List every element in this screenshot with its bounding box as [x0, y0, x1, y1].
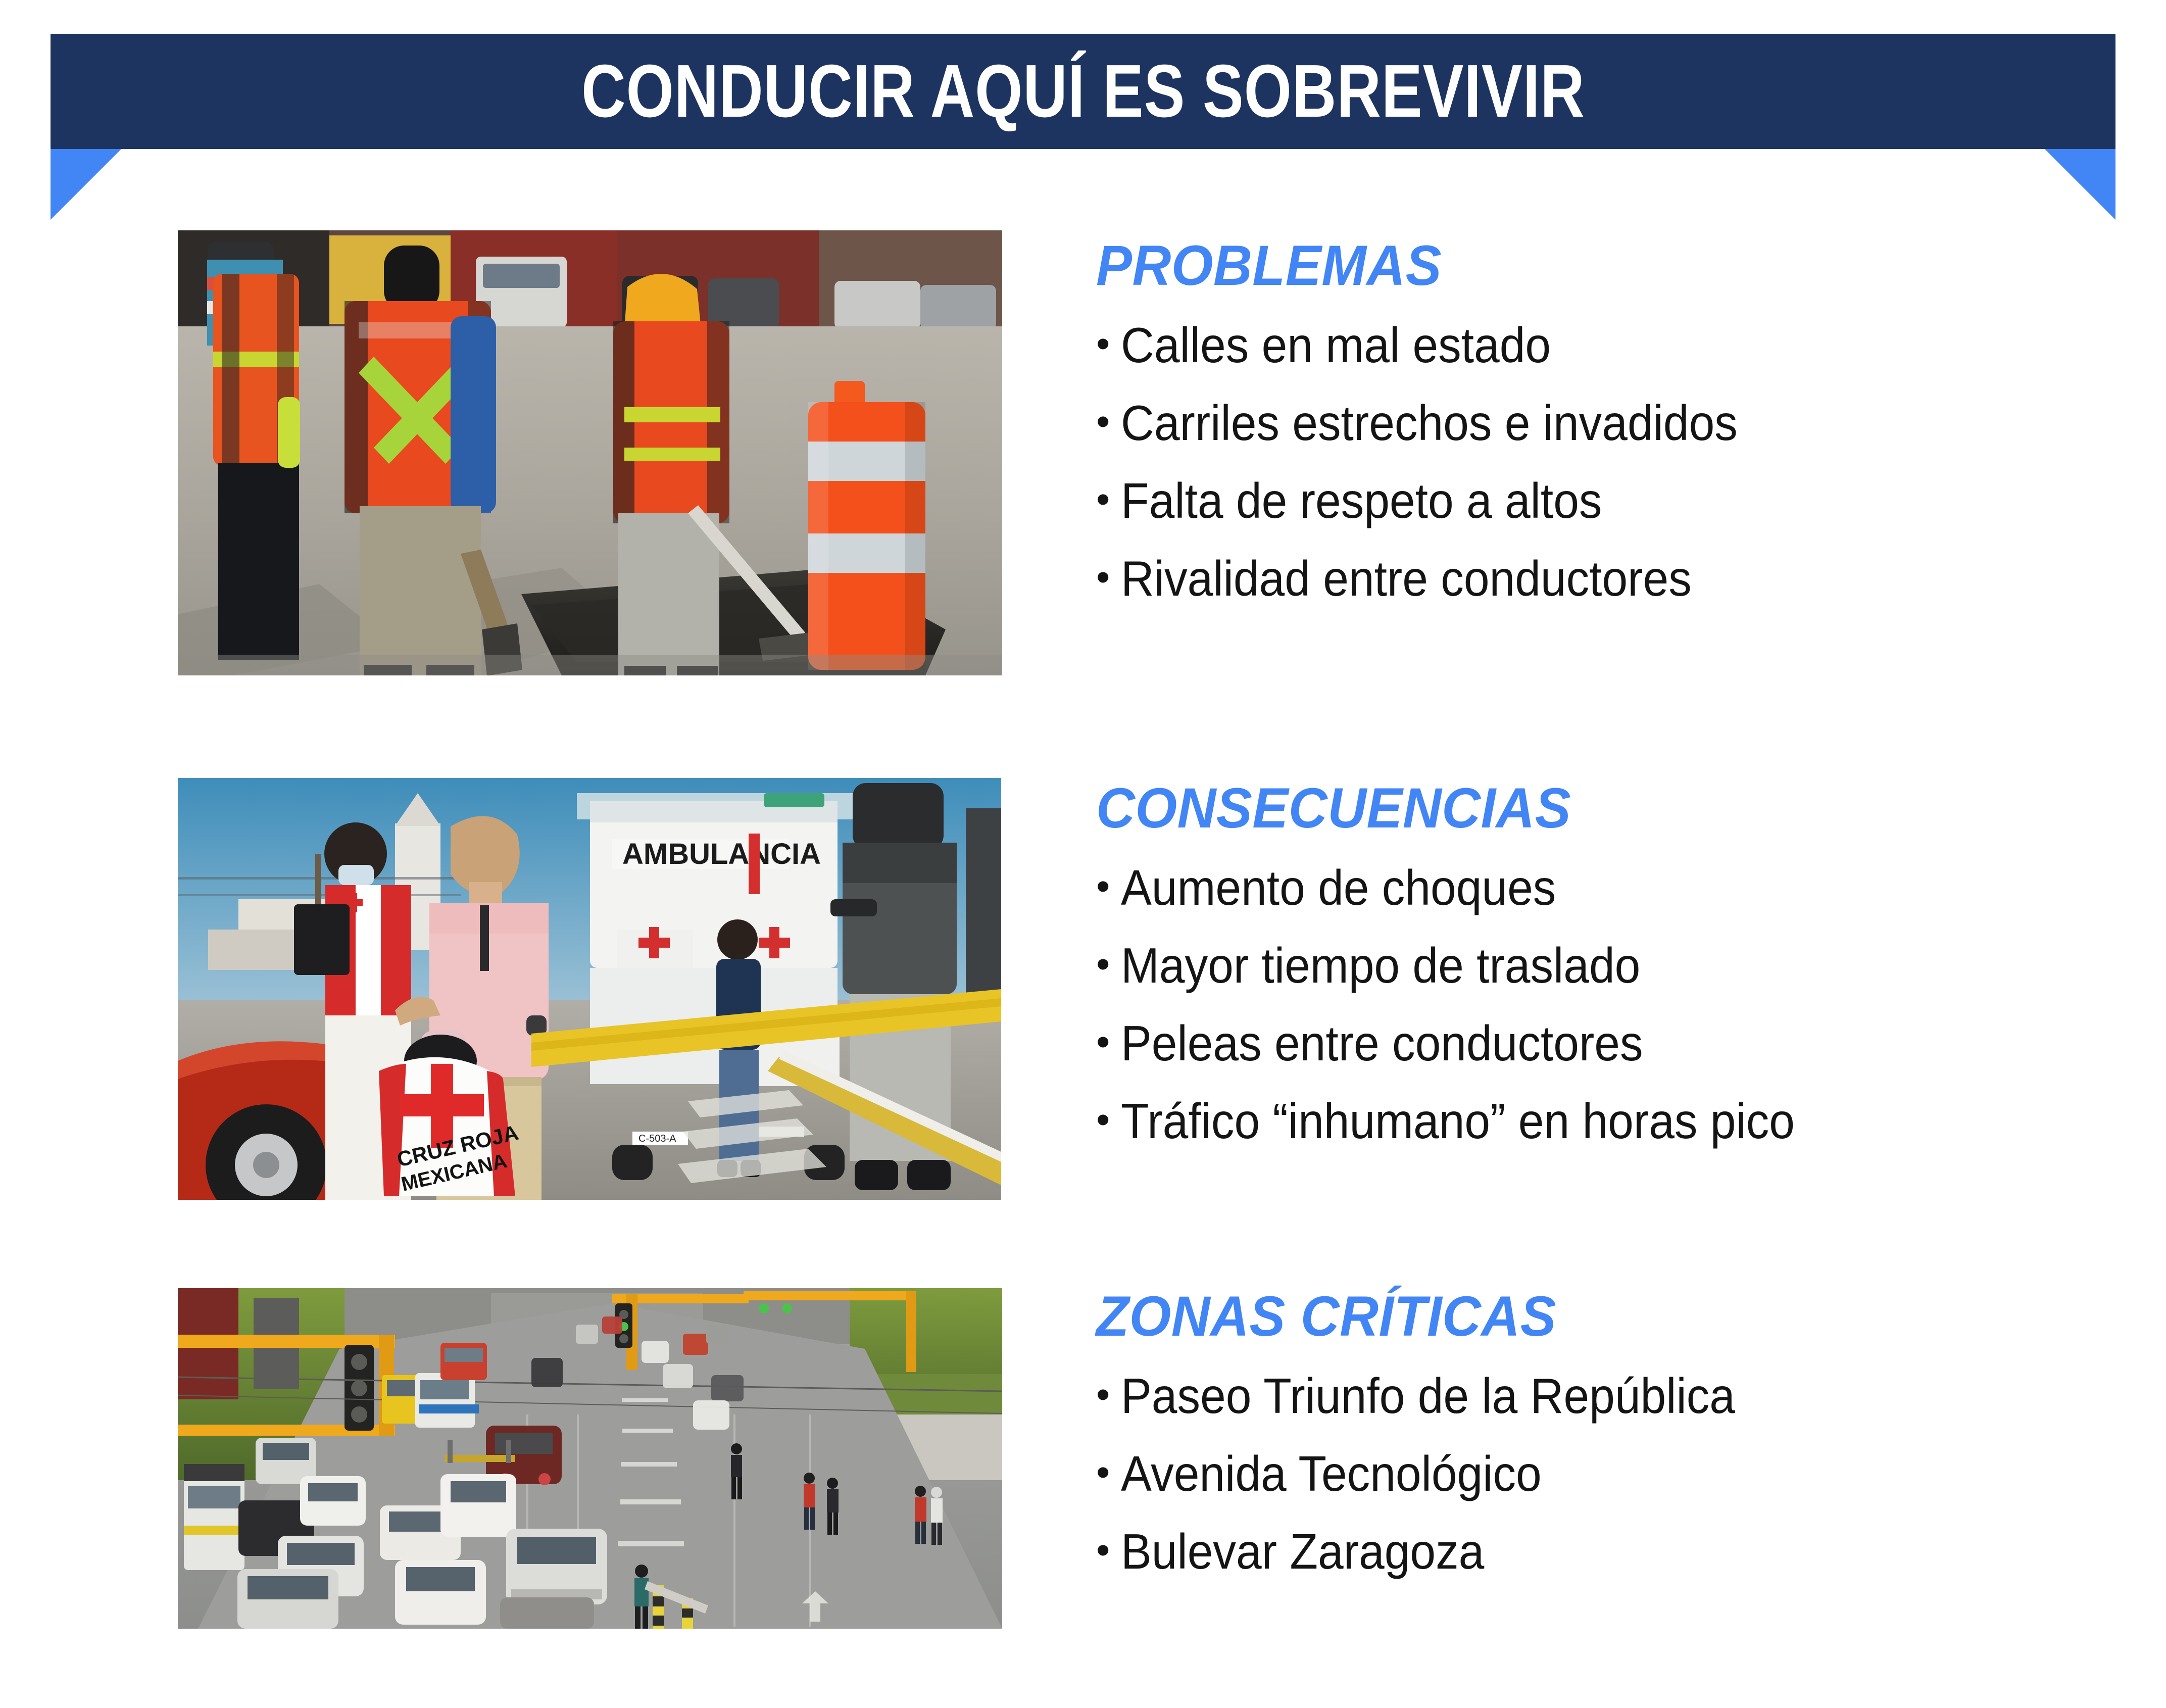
list-item-label: Aumento de choques	[1121, 863, 1556, 912]
bullet-dot-icon: •	[1096, 554, 1110, 601]
page-title: CONDUCIR AQUÍ ES SOBREVIVIR	[581, 54, 1585, 129]
list-item: • Calles en mal estado	[1096, 320, 2056, 370]
list-item-label: Tráfico “inhumano” en horas pico	[1121, 1096, 1795, 1146]
ribbon-fold-right-icon	[2045, 149, 2115, 220]
list-item-label: Avenida Tecnológico	[1121, 1449, 1542, 1498]
list-item-label: Carriles estrechos e invadidos	[1121, 398, 1738, 448]
heading-zonas-criticas: ZONAS CRÍTICAS	[1096, 1288, 2008, 1345]
list-item-label: Mayor tiempo de traslado	[1121, 941, 1640, 990]
bullet-list-zonas: • Paseo Triunfo de la República • Avenid…	[1096, 1371, 2056, 1576]
photo-road-repair	[178, 230, 1002, 675]
bullet-dot-icon: •	[1096, 320, 1110, 368]
list-item-label: Peleas entre conductores	[1121, 1018, 1643, 1068]
ribbon-fold-left-icon	[51, 149, 121, 220]
text-block-consecuencias: CONSECUENCIAS • Aumento de choques • May…	[1096, 778, 2056, 1174]
bullet-dot-icon: •	[1096, 1018, 1110, 1066]
bullet-list-problemas: • Calles en mal estado • Carriles estrec…	[1096, 320, 2056, 603]
text-block-problemas: PROBLEMAS • Calles en mal estado • Carri…	[1096, 230, 2056, 631]
bullet-list-consecuencias: • Aumento de choques • Mayor tiempo de t…	[1096, 863, 2056, 1146]
list-item: • Tráfico “inhumano” en horas pico	[1096, 1096, 2056, 1146]
photo-accident-scene: AMBULANCIA	[178, 778, 1001, 1200]
bullet-dot-icon: •	[1096, 863, 1110, 910]
traffic-avenue-illustration	[178, 1288, 1002, 1629]
road-repair-illustration	[178, 230, 1002, 675]
list-item-label: Paseo Triunfo de la República	[1121, 1371, 1735, 1421]
svg-text:AMBULANCIA: AMBULANCIA	[622, 838, 821, 870]
photo-traffic-avenue	[178, 1288, 1002, 1629]
bullet-dot-icon: •	[1096, 1527, 1110, 1574]
list-item: • Aumento de choques	[1096, 863, 2056, 912]
heading-problemas: PROBLEMAS	[1096, 237, 2008, 294]
list-item: • Carriles estrechos e invadidos	[1096, 398, 2056, 448]
section-problemas: PROBLEMAS • Calles en mal estado • Carri…	[0, 230, 2166, 685]
header-banner: CONDUCIR AQUÍ ES SOBREVIVIR	[51, 34, 2115, 149]
list-item-label: Falta de respeto a altos	[1121, 476, 1602, 525]
accident-scene-illustration: AMBULANCIA	[178, 778, 1001, 1200]
bullet-dot-icon: •	[1096, 398, 1110, 446]
text-block-zonas-criticas: ZONAS CRÍTICAS • Paseo Triunfo de la Rep…	[1096, 1288, 2056, 1604]
bullet-dot-icon: •	[1096, 1096, 1110, 1144]
list-item-label: Rivalidad entre conductores	[1121, 554, 1692, 603]
list-item: • Falta de respeto a altos	[1096, 476, 2056, 525]
list-item: • Paseo Triunfo de la República	[1096, 1371, 2056, 1421]
list-item-label: Bulevar Zaragoza	[1121, 1527, 1484, 1576]
traffic-barrel-icon	[808, 381, 925, 670]
bullet-dot-icon: •	[1096, 476, 1110, 523]
heading-consecuencias: CONSECUENCIAS	[1096, 780, 2008, 837]
bullet-dot-icon: •	[1096, 1449, 1110, 1496]
list-item: • Avenida Tecnológico	[1096, 1449, 2056, 1498]
section-consecuencias: AMBULANCIA	[0, 778, 2166, 1212]
list-item-label: Calles en mal estado	[1121, 320, 1551, 370]
section-zonas-criticas: ZONAS CRÍTICAS • Paseo Triunfo de la Rep…	[0, 1288, 2166, 1642]
list-item: • Peleas entre conductores	[1096, 1018, 2056, 1068]
list-item: • Rivalidad entre conductores	[1096, 554, 2056, 603]
list-item: • Mayor tiempo de traslado	[1096, 941, 2056, 990]
bullet-dot-icon: •	[1096, 1371, 1110, 1419]
worker-left	[207, 241, 300, 660]
bullet-dot-icon: •	[1096, 941, 1110, 988]
list-item: • Bulevar Zaragoza	[1096, 1527, 2056, 1576]
svg-text:C-503-A: C-503-A	[638, 1133, 676, 1144]
